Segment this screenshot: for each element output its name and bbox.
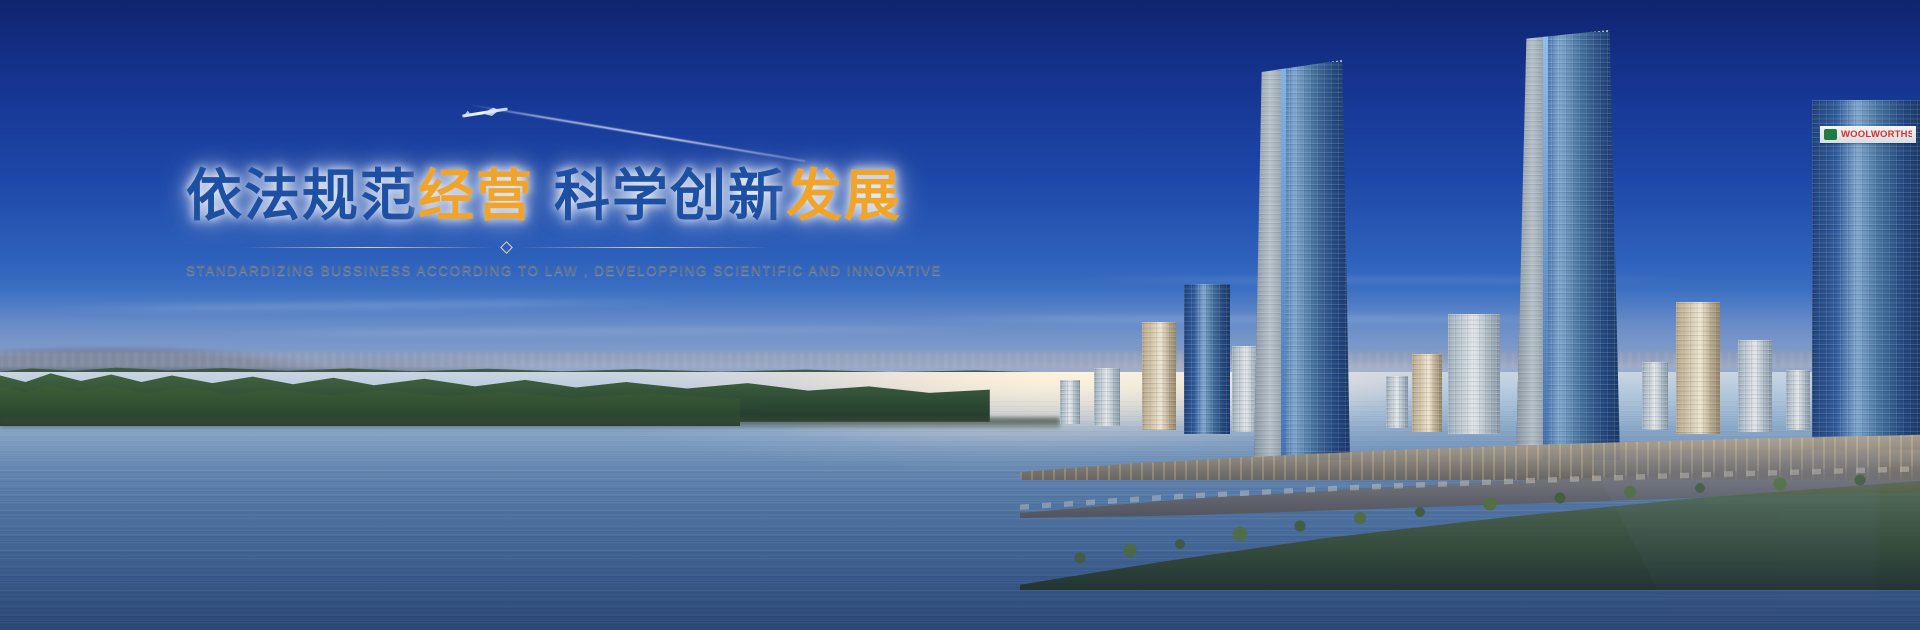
headline-segment-3: 科学创新 — [554, 164, 786, 229]
water-vignette — [0, 420, 1920, 630]
headline-segment-1: 依法规范 — [186, 164, 418, 229]
diamond-icon — [500, 241, 513, 254]
tower-crown — [1260, 53, 1344, 62]
tower-face — [1516, 30, 1543, 460]
building-mid — [1738, 340, 1772, 432]
building-mid — [1448, 314, 1500, 434]
hero-banner: WOOLWORTHS 依法规范经营科学创新发展 STANDARDIZING BU… — [0, 0, 1920, 630]
banner-subheadline: STANDARDIZING BUSSINESS ACCORDING TO LAW… — [186, 263, 826, 278]
building-small — [1060, 380, 1080, 424]
tower-woolworths: WOOLWORTHS — [1812, 100, 1920, 450]
tower-face — [1254, 60, 1281, 460]
headline-segment-4: 发展 — [786, 164, 902, 229]
building-mid — [1142, 322, 1176, 430]
woolworths-sign: WOOLWORTHS — [1820, 126, 1916, 143]
tower-right — [1516, 30, 1620, 460]
divider-rule-right — [520, 247, 770, 248]
tower-spine — [1543, 30, 1548, 460]
banner-copy: 依法规范经营科学创新发展 STANDARDIZING BUSSINESS ACC… — [186, 168, 826, 278]
headline-segment-2: 经营 — [418, 164, 534, 229]
tower-left — [1254, 60, 1350, 460]
tower-crown — [1522, 23, 1614, 32]
building-small — [1094, 368, 1120, 426]
building-mid — [1184, 284, 1230, 434]
woolworths-sign-text: WOOLWORTHS — [1841, 129, 1912, 140]
ornament-divider — [186, 243, 826, 252]
banner-headline: 依法规范经营科学创新发展 — [186, 168, 826, 227]
tower-spine — [1281, 60, 1286, 460]
divider-rule-left — [243, 247, 493, 248]
building-mid — [1676, 302, 1720, 434]
woolworths-logo-icon — [1824, 129, 1837, 140]
